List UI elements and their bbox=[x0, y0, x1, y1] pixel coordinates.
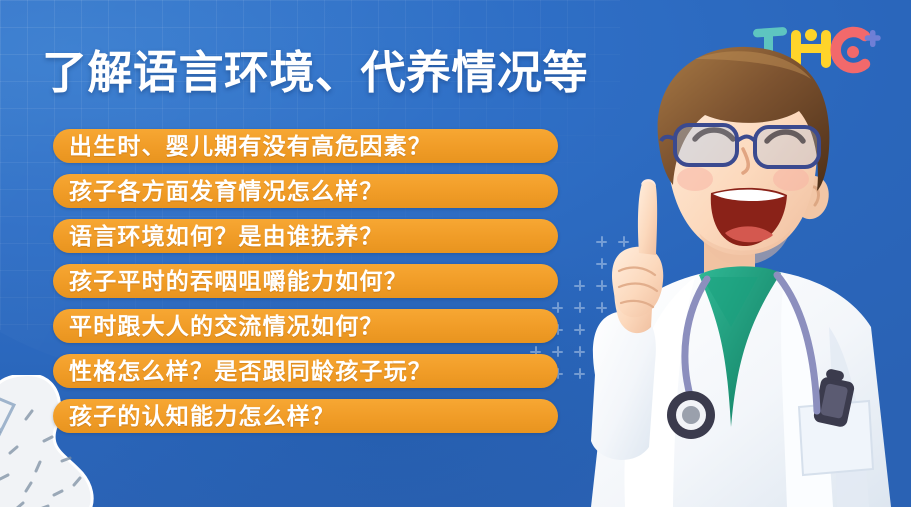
question-pill[interactable]: 孩子各方面发育情况怎么样？ bbox=[53, 174, 558, 208]
doctor-head bbox=[658, 47, 830, 265]
stethoscope-chestpiece bbox=[667, 391, 715, 439]
question-pill[interactable]: 孩子平时的吞咽咀嚼能力如何？ bbox=[53, 264, 558, 298]
question-pill[interactable]: 性格怎么样？是否跟同龄孩子玩？ bbox=[53, 354, 558, 388]
question-label: 出生时、婴儿期有没有高危因素？ bbox=[53, 135, 432, 158]
question-pill[interactable]: 出生时、婴儿期有没有高危因素？ bbox=[53, 129, 558, 163]
question-pill[interactable]: 语言环境如何？是由谁抚养？ bbox=[53, 219, 558, 253]
question-label: 平时跟大人的交流情况如何？ bbox=[53, 315, 384, 338]
question-pill[interactable]: 孩子的认知能力怎么样？ bbox=[53, 399, 558, 433]
question-label: 语言环境如何？是由谁抚养？ bbox=[53, 225, 384, 248]
question-list: 出生时、婴儿期有没有高危因素？ 孩子各方面发育情况怎么样？ 语言环境如何？是由谁… bbox=[53, 129, 558, 444]
question-pill[interactable]: 平时跟大人的交流情况如何？ bbox=[53, 309, 558, 343]
question-label: 孩子平时的吞咽咀嚼能力如何？ bbox=[53, 270, 408, 293]
pointing-finger bbox=[638, 180, 657, 256]
question-label: 孩子各方面发育情况怎么样？ bbox=[53, 180, 384, 203]
poster-canvas: 了解语言环境、代养情况等 bbox=[0, 0, 911, 507]
question-label: 性格怎么样？是否跟同龄孩子玩？ bbox=[53, 360, 432, 383]
question-label: 孩子的认知能力怎么样？ bbox=[53, 405, 335, 428]
doctor-illustration bbox=[499, 27, 911, 507]
